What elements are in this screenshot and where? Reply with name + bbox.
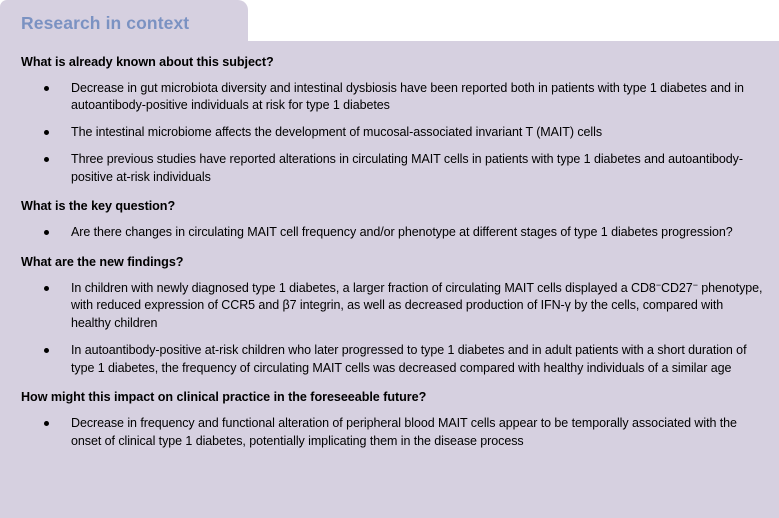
bullet-icon <box>44 157 49 162</box>
section-new-findings: What are the new findings? In children w… <box>0 255 779 377</box>
list-item: The intestinal microbiome affects the de… <box>0 124 779 142</box>
callout-tab: Research in context <box>0 0 248 45</box>
bullet-icon <box>44 286 49 291</box>
bullet-icon <box>44 86 49 91</box>
section-heading: How might this impact on clinical practi… <box>0 390 779 406</box>
callout-content: What is already known about this subject… <box>0 41 779 518</box>
research-in-context-callout: Research in context What is already know… <box>0 0 779 518</box>
section-heading: What is the key question? <box>0 199 779 215</box>
section-clinical-impact: How might this impact on clinical practi… <box>0 390 779 450</box>
bullet-icon <box>44 130 49 135</box>
list-item-text: The intestinal microbiome affects the de… <box>71 125 602 139</box>
section-heading: What are the new findings? <box>0 255 779 271</box>
list-item-text: Decrease in gut microbiota diversity and… <box>71 81 744 113</box>
section-bullet-list: Are there changes in circulating MAIT ce… <box>0 224 779 242</box>
section-already-known: What is already known about this subject… <box>0 55 779 186</box>
section-heading: What is already known about this subject… <box>0 55 779 71</box>
section-bullet-list: In children with newly diagnosed type 1 … <box>0 280 779 378</box>
section-key-question: What is the key question? Are there chan… <box>0 199 779 241</box>
list-item: Decrease in gut microbiota diversity and… <box>0 80 779 116</box>
section-bullet-list: Decrease in gut microbiota diversity and… <box>0 80 779 187</box>
list-item-text: Are there changes in circulating MAIT ce… <box>71 225 733 239</box>
list-item: Are there changes in circulating MAIT ce… <box>0 224 779 242</box>
callout-title: Research in context <box>21 13 189 34</box>
bullet-icon <box>44 348 49 353</box>
list-item-text: In children with newly diagnosed type 1 … <box>71 281 762 331</box>
list-item-text: Three previous studies have reported alt… <box>71 152 743 184</box>
list-item-text: In autoantibody-positive at-risk childre… <box>71 343 746 375</box>
section-bullet-list: Decrease in frequency and functional alt… <box>0 415 779 451</box>
list-item-text: Decrease in frequency and functional alt… <box>71 416 737 448</box>
bullet-icon <box>44 421 49 426</box>
bullet-icon <box>44 230 49 235</box>
superscript-minus: − <box>656 280 661 290</box>
list-item: Decrease in frequency and functional alt… <box>0 415 779 451</box>
superscript-minus: − <box>693 280 698 290</box>
list-item: In autoantibody-positive at-risk childre… <box>0 342 779 378</box>
list-item: Three previous studies have reported alt… <box>0 151 779 187</box>
list-item: In children with newly diagnosed type 1 … <box>0 280 779 333</box>
